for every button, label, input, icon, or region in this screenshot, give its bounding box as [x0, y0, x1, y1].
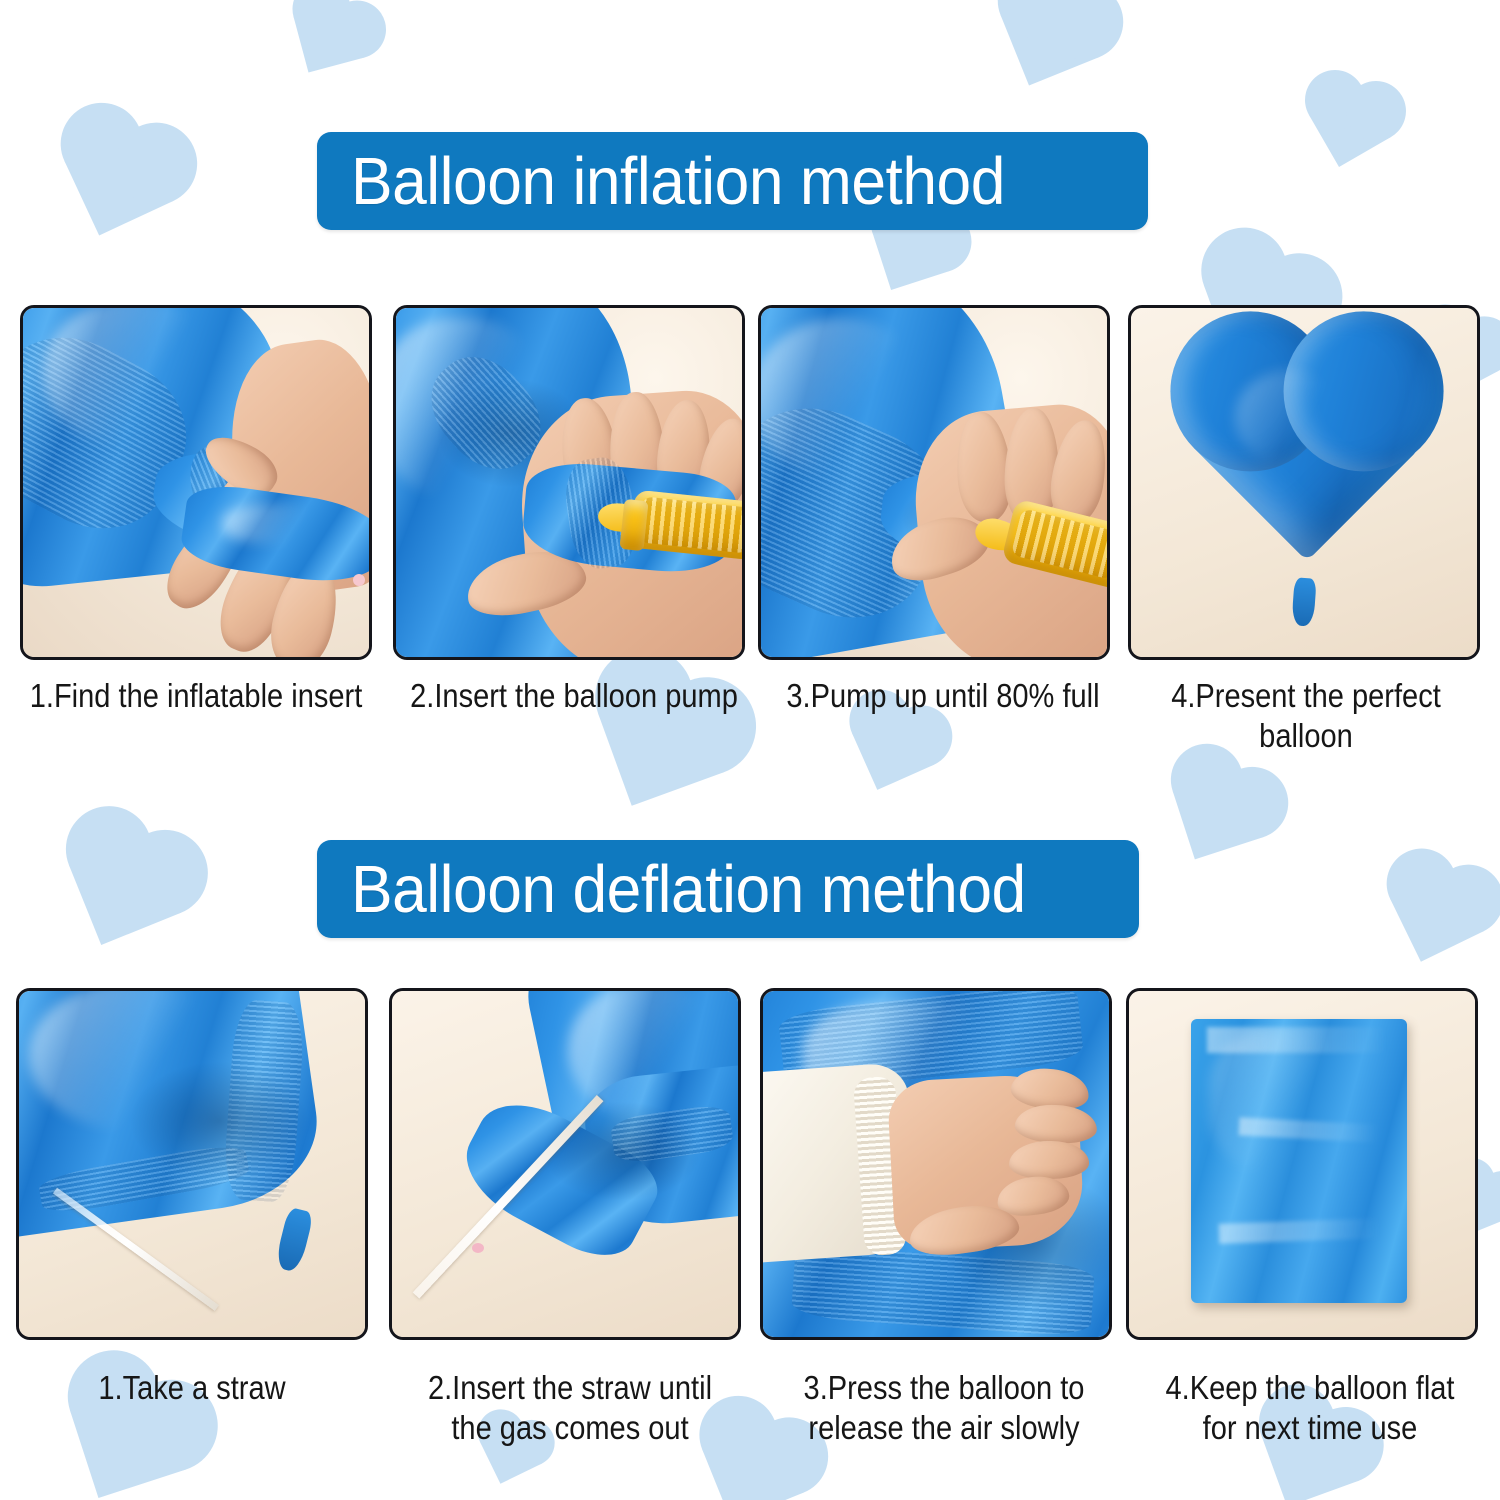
- caption-inflation-step-4: 4.Present the perfect balloon: [1135, 676, 1476, 757]
- caption-inflation-step-1: 1.Find the inflatable insert: [24, 676, 369, 716]
- caption-deflation-step-1: 1.Take a straw: [27, 1368, 358, 1408]
- photo-panel-inflation-step-1: [20, 305, 372, 660]
- photo-panel-inflation-step-3: [758, 305, 1110, 660]
- decor-heart: [1173, 769, 1264, 860]
- section-heading-inflation-text: Balloon inflation method: [351, 148, 1005, 215]
- caption-deflation-step-4: 4.Keep the balloon flat for next time us…: [1143, 1368, 1477, 1449]
- photo-panel-deflation-step-1: [16, 988, 368, 1340]
- photo-panel-inflation-step-2: [393, 305, 745, 660]
- caption-inflation-step-3: 3.Pump up until 80% full: [775, 676, 1111, 716]
- section-heading-inflation: Balloon inflation method: [317, 132, 1148, 230]
- photo-panel-deflation-step-3: [760, 988, 1112, 1340]
- section-heading-deflation: Balloon deflation method: [317, 840, 1139, 938]
- photo-panel-deflation-step-2: [389, 988, 741, 1340]
- caption-deflation-step-3: 3.Press the balloon to release the air s…: [777, 1368, 1111, 1449]
- caption-deflation-step-2: 2.Insert the straw until the gas comes o…: [401, 1368, 739, 1449]
- decor-heart: [65, 127, 174, 236]
- photo-panel-deflation-step-4: [1126, 988, 1478, 1340]
- section-heading-deflation-text: Balloon deflation method: [351, 856, 1026, 923]
- photo-panel-inflation-step-4: [1128, 305, 1480, 660]
- decor-heart: [69, 833, 181, 945]
- decor-heart: [852, 708, 934, 790]
- caption-inflation-step-2: 2.Insert the balloon pump: [402, 676, 747, 716]
- infographic-page: Balloon inflation method 1.Find the: [0, 0, 1500, 1500]
- decor-heart: [1390, 868, 1484, 962]
- decor-heart: [1001, 0, 1100, 85]
- decor-heart: [293, 1, 364, 72]
- decor-heart: [1309, 85, 1391, 167]
